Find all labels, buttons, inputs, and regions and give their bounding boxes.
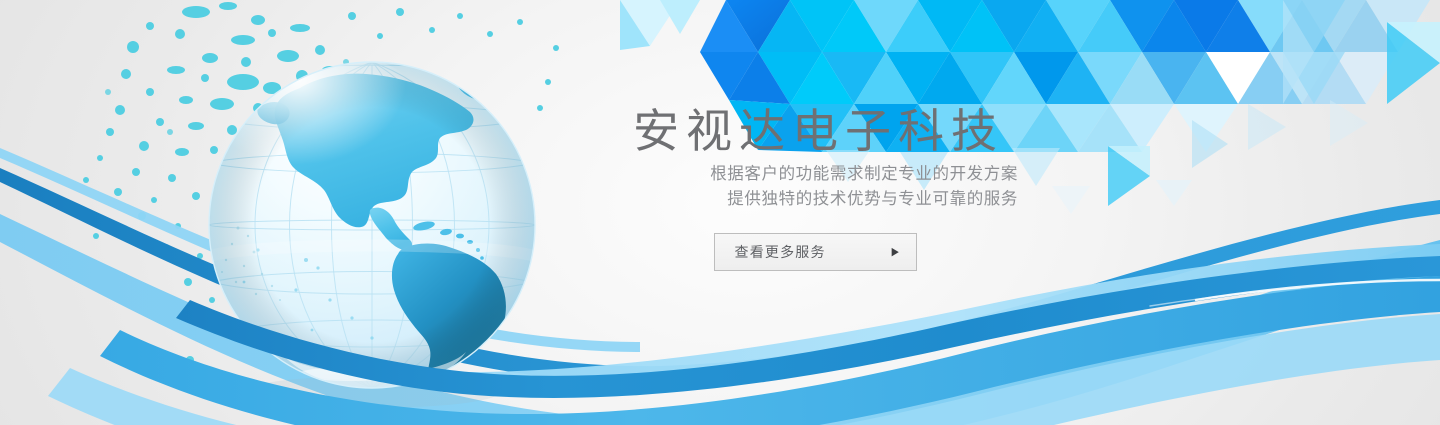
cta-label: 查看更多服务 [735, 242, 892, 262]
cta-container: 查看更多服务 ▶ [600, 233, 1030, 271]
subtitle-line-2: 提供独特的技术优势与专业可靠的服务 [600, 187, 1030, 212]
hero-banner: 安视达电子科技 根据客户的功能需求制定专业的开发方案 提供独特的技术优势与专业可… [0, 0, 1440, 425]
page-title: 安视达电子科技 [600, 104, 1030, 158]
view-more-services-button[interactable]: 查看更多服务 ▶ [714, 233, 917, 271]
banner-content: 安视达电子科技 根据客户的功能需求制定专业的开发方案 提供独特的技术优势与专业可… [600, 104, 1030, 271]
arrow-right-icon: ▶ [892, 247, 899, 258]
subtitle-line-1: 根据客户的功能需求制定专业的开发方案 [600, 162, 1030, 187]
